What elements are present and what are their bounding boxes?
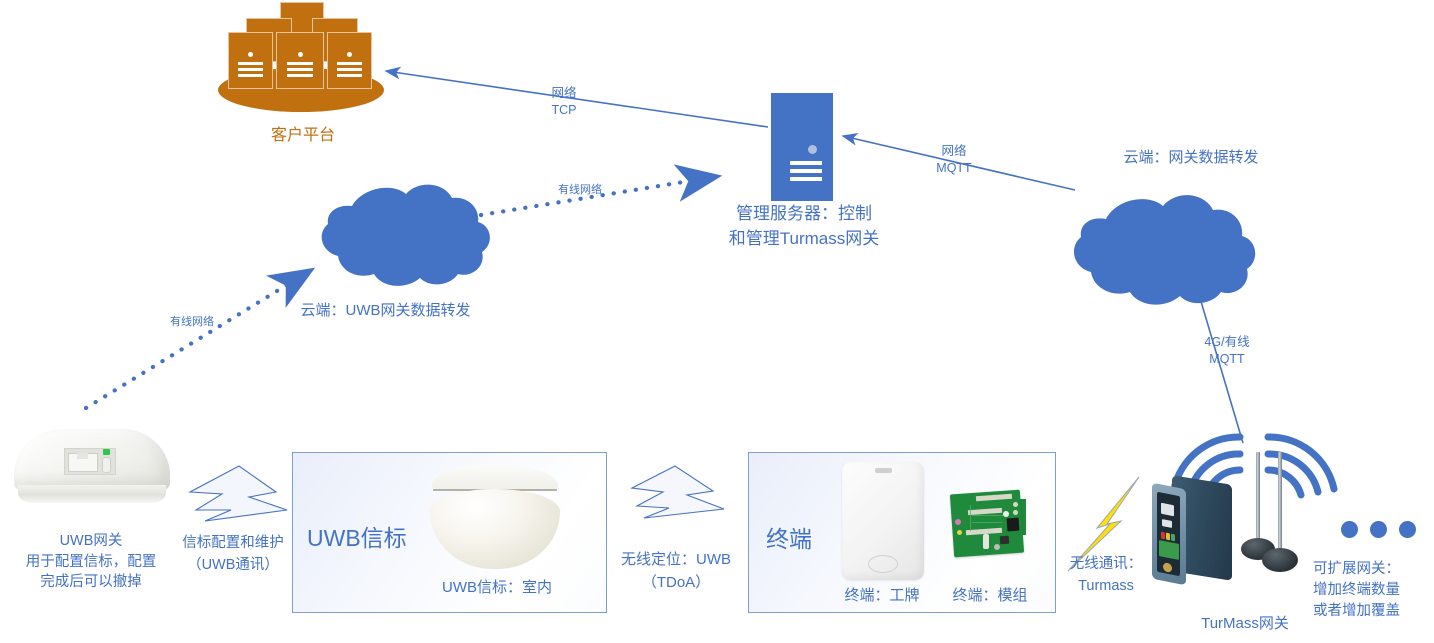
terminal-module-icon xyxy=(950,489,1028,559)
management-server-body xyxy=(771,93,833,201)
uwb-beacon-cap xyxy=(432,465,558,491)
management-server-label: 管理服务器：控制 和管理Turmass网关 xyxy=(690,202,918,251)
server-vent xyxy=(238,68,263,71)
pcb-chip-main xyxy=(1007,518,1020,532)
uwb-beacon-icon xyxy=(424,465,564,570)
server-led xyxy=(248,52,253,57)
uwb-gateway-button xyxy=(102,457,111,473)
cloud-gateway-icon xyxy=(1074,195,1255,304)
pcb-led-silver xyxy=(994,544,1000,550)
server-led xyxy=(347,52,352,57)
pcb-chip-small xyxy=(1000,536,1010,545)
server-vent xyxy=(238,74,263,77)
pcb-led-white xyxy=(1003,511,1009,517)
customer-platform-label: 客户平台 xyxy=(220,126,386,146)
terminal-panel-title: 终端 xyxy=(766,525,846,554)
server-vent xyxy=(238,62,263,65)
antenna-base xyxy=(1262,548,1298,572)
management-server-vent xyxy=(790,169,822,173)
turmass-led-yellow xyxy=(1166,533,1170,541)
link-label-4g-mqtt: 4G/有线 MQTT xyxy=(1184,334,1270,368)
link-label-network-mqtt: 网络 MQTT xyxy=(914,143,994,177)
three-dots-icon xyxy=(1370,521,1387,538)
link-uwb-gateway-to-cloud xyxy=(86,272,308,408)
pcb-led-yellow xyxy=(957,530,962,535)
turmass-gateway-device xyxy=(1152,478,1262,588)
pcb-led-pink xyxy=(955,519,961,525)
server-vent xyxy=(337,62,362,65)
rj45-notch xyxy=(77,453,88,459)
status-led-icon xyxy=(103,449,110,455)
terminal-badge-icon xyxy=(842,462,924,580)
three-dots-icon xyxy=(1399,521,1416,538)
pcb-trace-outline xyxy=(970,505,971,531)
link-label-network-tcp: 网络 TCP xyxy=(524,85,604,119)
uwb-gateway-base xyxy=(18,485,166,503)
pcb-pad-dot xyxy=(1013,510,1018,515)
badge-button-icon xyxy=(868,555,898,573)
turmass-led-red xyxy=(1161,532,1165,540)
lightning-outline-icon xyxy=(190,466,287,521)
pcb-capacitor xyxy=(983,534,989,549)
link-label-wired-network-mid: 有线网络 xyxy=(540,183,620,197)
turmass-wireless-link-label: 无线通讯： Turmass xyxy=(1058,554,1154,598)
server-box-front-center xyxy=(276,32,324,89)
terminal-badge-caption: 终端：工牌 xyxy=(829,586,935,605)
uwb-beacon-panel-title: UWB信标 xyxy=(307,524,425,553)
lightning-outline-icon xyxy=(632,466,724,518)
server-vent xyxy=(337,68,362,71)
expandable-gateway-dots xyxy=(1341,521,1427,541)
badge-lanyard-slot xyxy=(875,468,892,473)
uwb-tdoa-link-label: 无线定位：UWB （TDoA） xyxy=(611,549,741,594)
terminal-module-caption: 终端：模组 xyxy=(937,586,1043,605)
pcb-pad-dot xyxy=(1013,502,1018,507)
link-label-wired-network-left: 有线网络 xyxy=(152,315,232,329)
beacon-config-link-label: 信标配置和维护 （UWB通讯） xyxy=(172,533,294,577)
architecture-diagram-canvas: 客户平台 管理服务器：控制 和管理Turmass网关 云端：UWB网关数据转发 … xyxy=(0,0,1434,643)
cloud-gateway-label: 云端：网关数据转发 xyxy=(1083,148,1299,167)
uwb-gateway-label: UWB网关 用于配置信标，配置 完成后可以撤掉 xyxy=(3,531,179,593)
cloud-uwb-label: 云端：UWB网关数据转发 xyxy=(278,301,493,320)
pcb-trace xyxy=(972,515,1006,516)
antenna-rod xyxy=(1278,452,1282,552)
uwb-beacon-caption: UWB信标：室内 xyxy=(424,578,570,597)
turmass-ethernet-port xyxy=(1161,503,1174,517)
pcb-trace xyxy=(972,522,1002,523)
uwb-gateway-device xyxy=(14,429,172,505)
server-vent xyxy=(337,74,362,77)
uwb-beacon-body xyxy=(430,489,560,569)
management-server-node xyxy=(771,93,833,201)
management-server-vent xyxy=(790,177,822,181)
server-vent xyxy=(287,74,313,77)
customer-platform-node xyxy=(218,0,388,118)
server-led xyxy=(298,52,303,57)
server-box-front-right xyxy=(327,32,372,89)
management-server-vent xyxy=(790,161,822,165)
turmass-led-green xyxy=(1171,534,1175,542)
antenna-right xyxy=(1272,452,1288,582)
server-vent xyxy=(287,68,313,71)
expandable-gateway-label: 可扩展网关： 增加终端数量 或者增加覆盖 xyxy=(1313,559,1434,622)
turmass-gateway-label: TurMass网关 xyxy=(1165,614,1325,633)
management-server-led xyxy=(808,145,817,154)
cloud-uwb-icon xyxy=(322,185,490,286)
three-dots-icon xyxy=(1341,521,1358,538)
server-vent xyxy=(287,62,313,65)
server-box-front-left xyxy=(228,32,273,89)
